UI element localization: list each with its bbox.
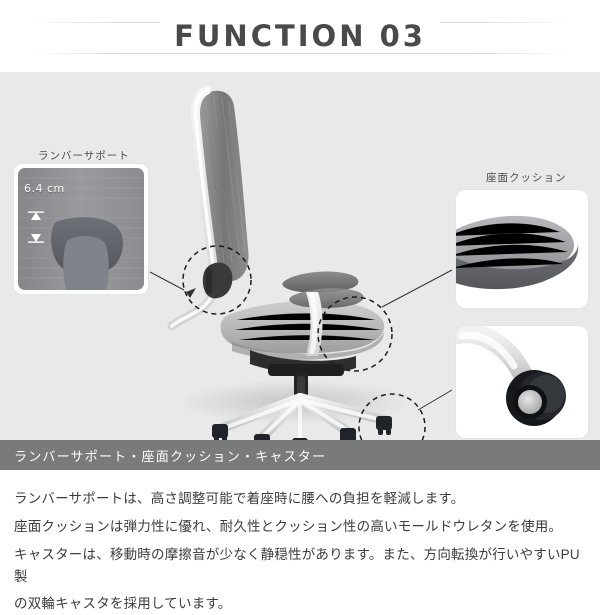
cushion-panel-label: 座面クッション: [486, 170, 567, 185]
caster-detail-panel: [456, 326, 588, 438]
description-line-1: ランバーサポートは、高さ調整可能で着座時に腰への負担を軽減します。: [14, 488, 586, 510]
callout-arrowheads: [186, 288, 196, 298]
page-header: FUNCTION 03: [0, 0, 600, 72]
lumbar-connector: [150, 272, 184, 290]
cushion-detail-image: [456, 190, 588, 308]
hero-section: ランバーサポート: [0, 72, 600, 440]
page-title: FUNCTION 03: [160, 19, 440, 53]
cushion-detail-panel: [456, 190, 588, 308]
caster-detail-image: [456, 326, 588, 438]
description-line-3: キャスターは、移動時の摩擦音が少なく静穏性があります。また、方向転換が行いやすい…: [14, 544, 586, 588]
section-title-bar: ランバーサポート・座面クッション・キャスター: [0, 440, 600, 470]
lumbar-panel-label: ランバーサポート: [38, 148, 130, 163]
description-line-2: 座面クッションは弾力性に優れ、耐久性とクッション性の高いモールドウレタンを使用。: [14, 516, 586, 538]
product-feature-infographic: FUNCTION 03: [0, 0, 600, 600]
caster-connector: [418, 390, 452, 410]
section-title-text: ランバーサポート・座面クッション・キャスター: [14, 446, 326, 465]
header-rule-bottom: [30, 53, 570, 54]
lumbar-measurement-value: 6.4 cm: [24, 182, 65, 195]
description-block: ランバーサポートは、高さ調整可能で着座時に腰への負担を軽減します。 座面クッショ…: [0, 470, 600, 615]
description-line-4: の双輪キャスタを採用しています。: [14, 593, 586, 615]
lumbar-detail-panel: 6.4 cm: [14, 164, 148, 294]
cushion-connector: [382, 270, 452, 307]
